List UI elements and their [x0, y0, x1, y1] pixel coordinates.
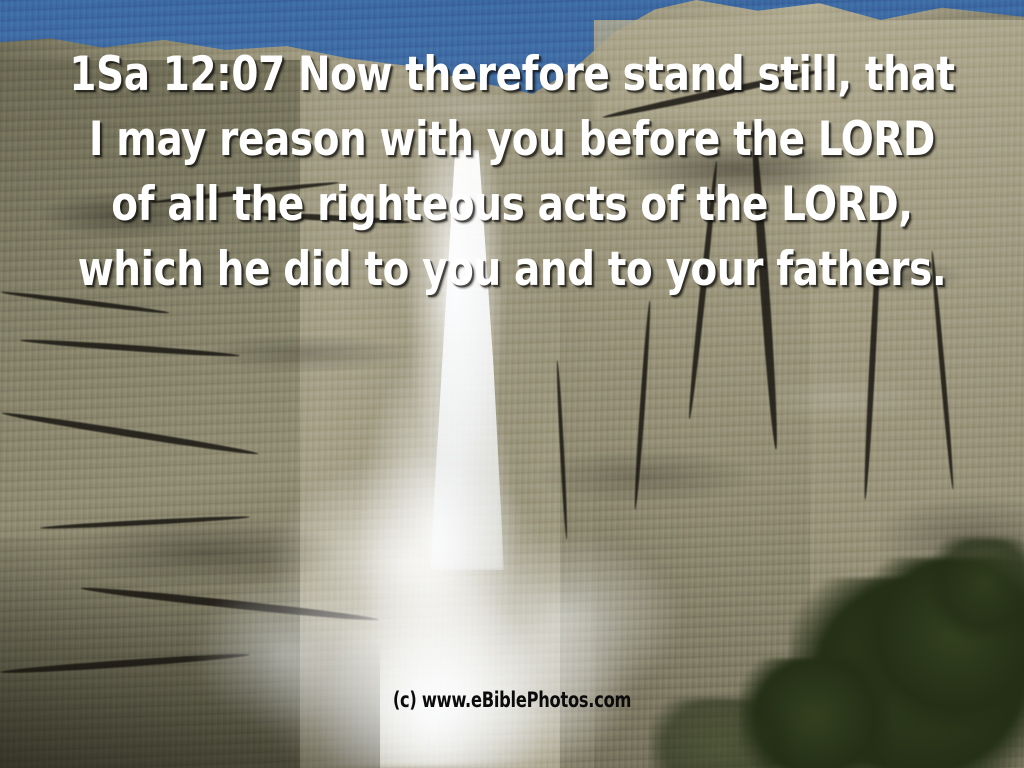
bottom-shadow	[0, 538, 380, 768]
verse-line-3: of all the righteous acts of the LORD,	[41, 172, 983, 237]
verse-line-1: 1Sa 12:07 Now therefore stand still, tha…	[41, 42, 983, 107]
vegetation-patch	[930, 538, 1024, 638]
verse-line-2: I may reason with you before the LORD	[41, 107, 983, 172]
copyright-watermark: (c) www.eBiblePhotos.com	[72, 688, 953, 712]
verse-overlay: 1Sa 12:07 Now therefore stand still, tha…	[41, 42, 983, 302]
bible-verse-image: 1Sa 12:07 Now therefore stand still, tha…	[0, 0, 1024, 768]
verse-line-4: which he did to you and to your fathers.	[41, 237, 983, 302]
